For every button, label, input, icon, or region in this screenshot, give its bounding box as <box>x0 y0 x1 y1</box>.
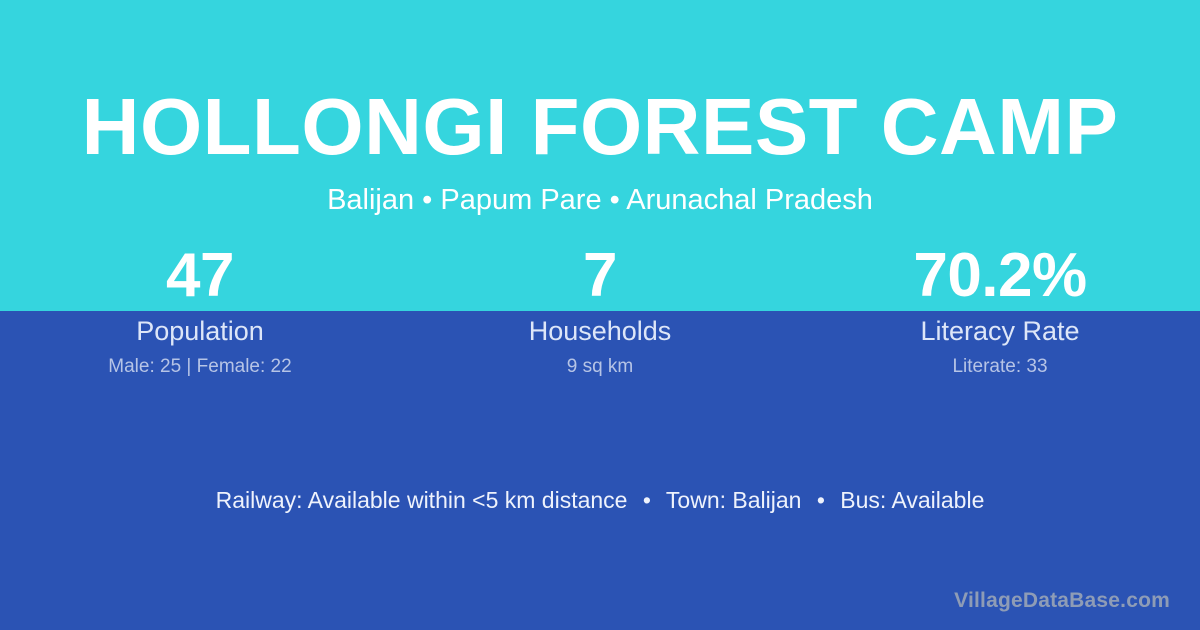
literacy-rate-value: 70.2% <box>800 240 1200 312</box>
population-gender-breakdown: Male: 25 | Female: 22 <box>0 354 400 380</box>
stat-block-literacy: 70.2% Literacy Rate Literate: 33 <box>800 240 1200 380</box>
page-title: HOLLONGI FOREST CAMP <box>0 79 1200 175</box>
stat-block-population: 47 Population Male: 25 | Female: 22 <box>0 240 400 380</box>
stat-block-households: 7 Households 9 sq km <box>400 240 800 380</box>
population-label: Population <box>0 314 400 348</box>
households-value: 7 <box>400 240 800 312</box>
statistics-row: 47 Population Male: 25 | Female: 22 7 Ho… <box>0 240 1200 380</box>
railway-info: Railway: Available within <5 km distance <box>216 487 628 513</box>
households-label: Households <box>400 314 800 348</box>
village-area: 9 sq km <box>400 354 800 380</box>
population-value: 47 <box>0 240 400 312</box>
infra-separator-2: • <box>808 484 834 516</box>
bus-info: Bus: Available <box>840 487 984 513</box>
literacy-rate-label: Literacy Rate <box>800 314 1200 348</box>
site-brand-watermark: VillageDataBase.com <box>954 587 1170 615</box>
infra-separator-1: • <box>634 484 660 516</box>
nearest-town-info: Town: Balijan <box>666 487 802 513</box>
infrastructure-summary: Railway: Available within <5 km distance… <box>0 484 1200 516</box>
village-info-card: HOLLONGI FOREST CAMP Balijan • Papum Par… <box>0 0 1200 630</box>
location-breadcrumb: Balijan • Papum Pare • Arunachal Pradesh <box>0 181 1200 219</box>
literate-count: Literate: 33 <box>800 354 1200 380</box>
